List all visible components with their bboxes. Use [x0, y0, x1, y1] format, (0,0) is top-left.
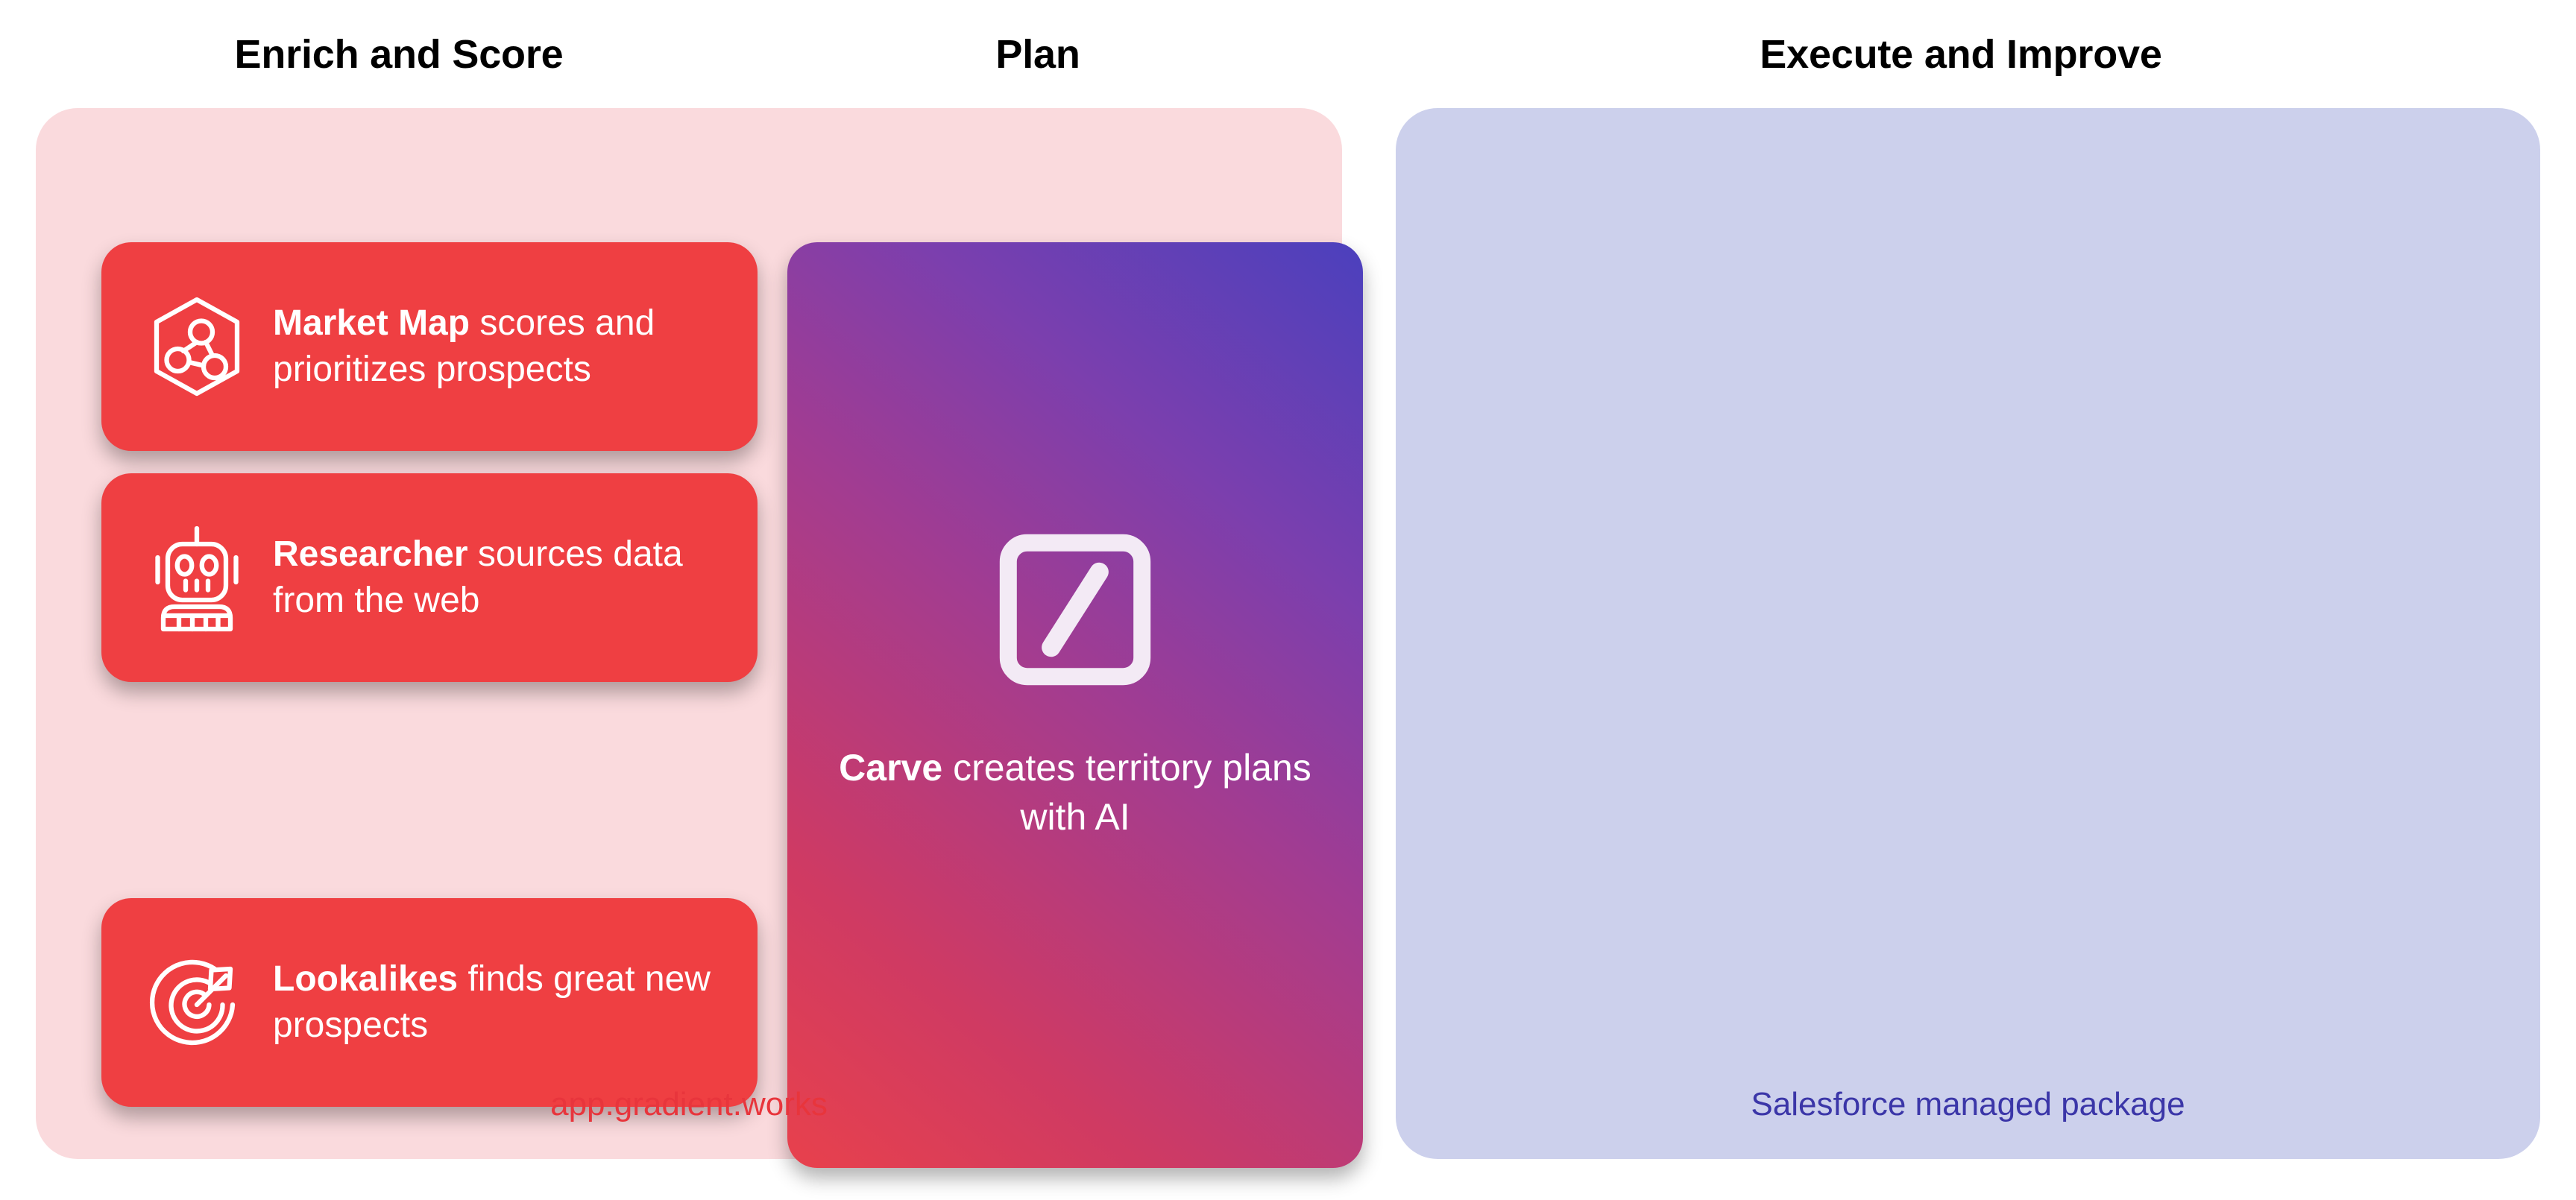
card-carve-text: Carve creates territory plans with AI [813, 743, 1338, 841]
panel-execute-and-improve: Bookbuilder manages territories Routing … [1396, 108, 2540, 1159]
card-market-map-text: Market Map scores and prioritizes prospe… [259, 300, 728, 394]
robot-icon [134, 522, 259, 634]
slash-square-icon [989, 524, 1161, 695]
card-researcher[interactable]: Researcher sources data from the web [101, 473, 758, 682]
footer-salesforce-managed-package: Salesforce managed package [1396, 1086, 2540, 1123]
card-market-map-title: Market Map [273, 303, 470, 343]
target-dart-icon [134, 947, 259, 1058]
footer-app-gradient-works: app.gradient.works [36, 1086, 1342, 1123]
panel-enrich-and-score: Market Map scores and prioritizes prospe… [36, 108, 1342, 1159]
column-headings: Enrich and Score Plan Execute and Improv… [0, 0, 2576, 108]
card-carve[interactable]: Carve creates territory plans with AI [787, 242, 1363, 1168]
card-carve-body: creates territory plans with AI [942, 747, 1311, 838]
hexagon-network-icon [134, 291, 259, 402]
heading-enrich-and-score: Enrich and Score [235, 31, 564, 78]
card-lookalikes-title: Lookalikes [273, 959, 458, 999]
heading-plan: Plan [995, 31, 1080, 78]
card-lookalikes-text: Lookalikes finds great new prospects [259, 956, 728, 1049]
heading-execute-and-improve: Execute and Improve [1760, 31, 2161, 78]
card-lookalikes[interactable]: Lookalikes finds great new prospects [101, 898, 758, 1107]
card-researcher-title: Researcher [273, 534, 468, 574]
card-market-map[interactable]: Market Map scores and prioritizes prospe… [101, 242, 758, 451]
card-researcher-text: Researcher sources data from the web [259, 531, 728, 625]
card-carve-title: Carve [839, 747, 942, 789]
